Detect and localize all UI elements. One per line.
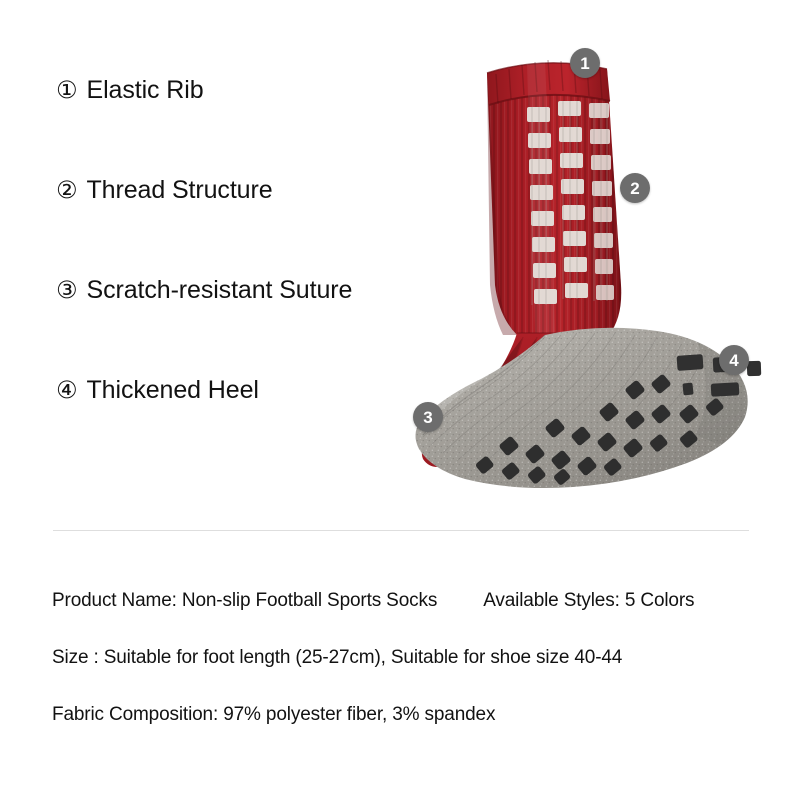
sock-illustration (395, 35, 775, 515)
sock-sole (405, 320, 765, 500)
spec-row-product-name: Product Name: Non-slip Football Sports S… (52, 572, 752, 629)
feature-marker-3-icon: ③ (56, 278, 78, 302)
feature-marker-4-icon: ④ (56, 378, 78, 402)
spec-fabric-composition: Fabric Composition: 97% polyester fiber,… (52, 704, 495, 726)
feature-label-2: Thread Structure (87, 178, 273, 203)
feature-label-3: Scratch-resistant Suture (87, 278, 353, 303)
callout-badge-1[interactable]: 1 (570, 48, 600, 78)
spec-row-fabric-composition: Fabric Composition: 97% polyester fiber,… (52, 686, 752, 743)
spec-row-size: Size : Suitable for foot length (25-27cm… (52, 629, 752, 686)
product-photo (395, 35, 775, 515)
spec-size: Size : Suitable for foot length (25-27cm… (52, 647, 622, 669)
feature-label-1: Elastic Rib (87, 78, 204, 103)
product-infographic: ① Elastic Rib ② Thread Structure ③ Scrat… (0, 0, 800, 800)
spec-available-styles: Available Styles: 5 Colors (483, 590, 694, 612)
callout-badge-4[interactable]: 4 (719, 345, 749, 375)
callout-badge-2[interactable]: 2 (620, 173, 650, 203)
feature-marker-1-icon: ① (56, 78, 78, 102)
section-divider (53, 530, 749, 531)
feature-marker-2-icon: ② (56, 178, 78, 202)
feature-label-4: Thickened Heel (87, 378, 259, 403)
sock-shaft (475, 55, 645, 355)
spec-product-name: Product Name: Non-slip Football Sports S… (52, 590, 437, 612)
callout-badge-3[interactable]: 3 (413, 402, 443, 432)
specifications-block: Product Name: Non-slip Football Sports S… (52, 572, 752, 743)
